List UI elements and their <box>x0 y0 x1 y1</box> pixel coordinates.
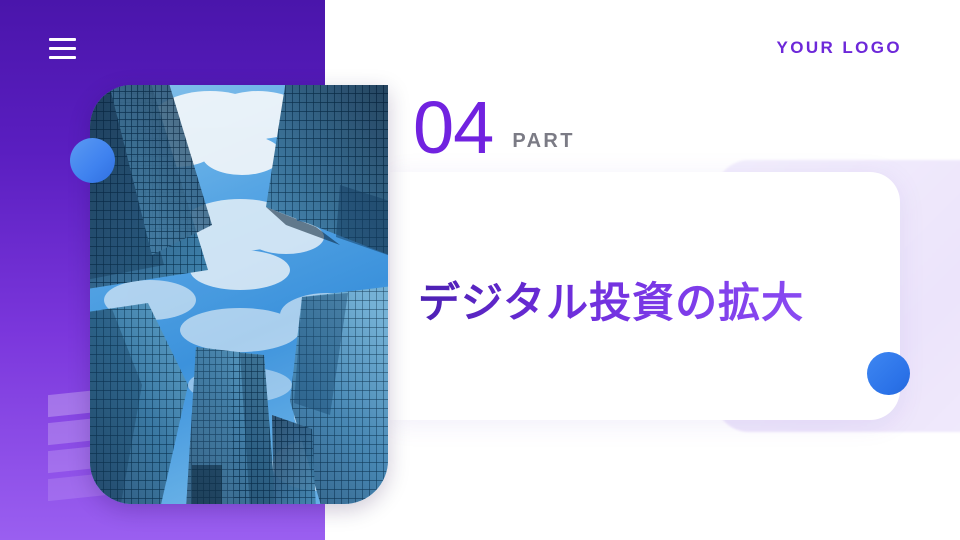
section-number: 04 <box>413 94 493 162</box>
section-label: PART <box>512 130 575 153</box>
hamburger-menu-icon[interactable] <box>49 38 76 59</box>
skyscraper-photo-illustration <box>90 85 388 504</box>
hamburger-line-3 <box>49 56 76 59</box>
slide-root: YOUR LOGO 04 PART デジタル投資の拡大 <box>0 0 960 540</box>
hamburger-line-1 <box>49 38 76 41</box>
logo: YOUR LOGO <box>777 38 903 58</box>
decorative-circle-right <box>867 352 910 395</box>
section-number-block: 04 PART <box>413 94 575 162</box>
hamburger-line-2 <box>49 47 76 50</box>
decorative-circle-left <box>70 138 115 183</box>
page-title: デジタル投資の拡大 <box>418 269 804 330</box>
hero-image <box>90 85 388 504</box>
